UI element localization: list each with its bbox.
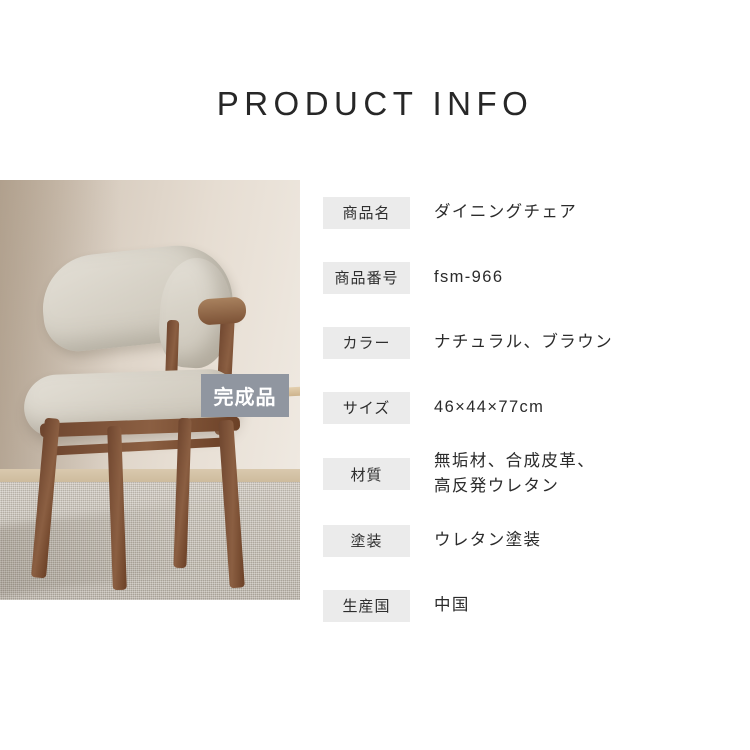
spec-value: ダイニングチェア bbox=[434, 200, 577, 225]
spec-value: ウレタン塗装 bbox=[434, 528, 541, 553]
spec-value: ナチュラル、ブラウン bbox=[434, 330, 613, 355]
spec-label: カラー bbox=[323, 327, 410, 359]
table-row: 材質 無垢材、合成皮革、 高反発ウレタン bbox=[323, 440, 723, 508]
table-row: 塗装 ウレタン塗装 bbox=[323, 508, 723, 573]
product-info-page: PRODUCT INFO 完成品 商品名 ダイニングチェア bbox=[0, 0, 750, 750]
table-row: サイズ 46×44×77cm bbox=[323, 375, 723, 440]
chair-leg-back-right bbox=[218, 420, 245, 589]
spec-value: fsm-966 bbox=[434, 265, 503, 290]
spec-label: 商品番号 bbox=[323, 262, 410, 294]
table-row: 商品名 ダイニングチェア bbox=[323, 180, 723, 245]
finished-product-badge: 完成品 bbox=[201, 374, 289, 417]
spec-label: 材質 bbox=[323, 458, 410, 490]
table-row: 商品番号 fsm-966 bbox=[323, 245, 723, 310]
product-photo[interactable]: 完成品 bbox=[0, 180, 300, 600]
spec-label: 塗装 bbox=[323, 525, 410, 557]
chair-leg-front-left bbox=[31, 418, 60, 579]
spec-label: サイズ bbox=[323, 392, 410, 424]
spec-value: 中国 bbox=[434, 593, 470, 618]
spec-value: 46×44×77cm bbox=[434, 395, 544, 420]
spec-value: 無垢材、合成皮革、 高反発ウレタン bbox=[434, 449, 595, 499]
page-title: PRODUCT INFO bbox=[0, 84, 750, 124]
spec-table: 商品名 ダイニングチェア 商品番号 fsm-966 カラー ナチュラル、ブラウン… bbox=[323, 180, 723, 638]
table-row: 生産国 中国 bbox=[323, 573, 723, 638]
chair-arm-cap bbox=[197, 296, 247, 325]
spec-label: 商品名 bbox=[323, 197, 410, 229]
chair-stretcher bbox=[48, 437, 228, 455]
table-row: カラー ナチュラル、ブラウン bbox=[323, 310, 723, 375]
spec-label: 生産国 bbox=[323, 590, 410, 622]
